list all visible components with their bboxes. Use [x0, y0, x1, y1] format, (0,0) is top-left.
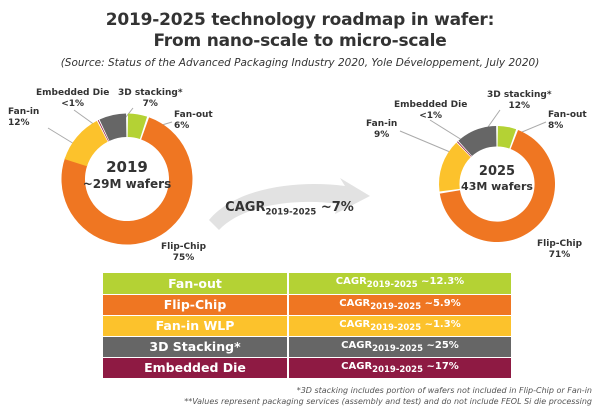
- callout-flip-chip-2019-pct: 75%: [161, 253, 206, 264]
- donut-2019-year: 2019: [48, 158, 206, 176]
- cagr-prefix: CAGR: [341, 361, 372, 372]
- page-title-line2: From nano-scale to micro-scale: [0, 31, 600, 52]
- callout-flip-chip-2025-pct: 71%: [537, 250, 582, 261]
- callout-3d-stacking-2025-name: 3D stacking*: [487, 90, 552, 100]
- callout-fan-out-2019: Fan-out 6%: [174, 110, 213, 132]
- callout-3d-stacking-2019: 3D stacking* 7%: [118, 88, 183, 110]
- row-name-fan-out: Fan-out: [103, 273, 288, 294]
- callout-embedded-die-2019-name: Embedded Die: [36, 88, 109, 98]
- cagr-value: ~17%: [427, 361, 459, 372]
- donut-2019-center: 2019 ~29M wafers: [48, 158, 206, 192]
- cagr-arrow-prefix: CAGR: [225, 200, 265, 215]
- callout-fan-in-2019-name: Fan-in: [8, 107, 39, 117]
- row-name-fan-in-wlp: Fan-in WLP: [103, 315, 288, 336]
- callout-embedded-die-2025-pct: <1%: [394, 111, 467, 122]
- table-row: Fan-out CAGR2019-2025 ~12.3%: [103, 273, 511, 294]
- table-row: 3D Stacking* CAGR2019-2025 ~25%: [103, 336, 511, 357]
- donut-chart-2025: 2025 43M wafers: [431, 118, 563, 250]
- callout-fan-out-2019-name: Fan-out: [174, 110, 213, 120]
- callout-3d-stacking-2019-pct: 7%: [118, 99, 183, 110]
- page-title-line1: 2019-2025 technology roadmap in wafer:: [0, 10, 600, 31]
- callout-fan-out-2025: Fan-out 8%: [548, 110, 587, 132]
- donut-2025-year: 2025: [431, 164, 563, 180]
- cagr-value: ~12.3%: [421, 276, 464, 287]
- row-cagr-fan-in-wlp: CAGR2019-2025 ~1.3%: [288, 315, 511, 336]
- callout-embedded-die-2019-pct: <1%: [36, 99, 109, 110]
- cagr-arrow-value: ~7%: [321, 200, 354, 215]
- cagr-value: ~1.3%: [425, 319, 461, 330]
- callout-embedded-die-2025-name: Embedded Die: [394, 100, 467, 110]
- table-row: Embedded Die CAGR2019-2025 ~17%: [103, 357, 511, 378]
- cagr-subscript: 2019-2025: [370, 323, 421, 333]
- callout-3d-stacking-2025-pct: 12%: [487, 101, 552, 112]
- table-row: Flip-Chip CAGR2019-2025 ~5.9%: [103, 294, 511, 315]
- cagr-prefix: CAGR: [341, 340, 372, 351]
- donut-2025-wafers: 43M wafers: [431, 180, 563, 194]
- row-cagr-fan-out: CAGR2019-2025 ~12.3%: [288, 273, 511, 294]
- cagr-subscript: 2019-2025: [372, 344, 423, 354]
- callout-fan-in-2019-pct: 12%: [8, 118, 39, 129]
- row-name-embedded-die: Embedded Die: [103, 357, 288, 378]
- callout-flip-chip-2025: Flip-Chip 71%: [537, 239, 582, 261]
- callout-embedded-die-2025: Embedded Die <1%: [394, 100, 467, 122]
- cagr-prefix: CAGR: [339, 319, 370, 330]
- footnotes: *3D stacking includes portion of wafers …: [0, 385, 592, 407]
- row-cagr-embedded-die: CAGR2019-2025 ~17%: [288, 357, 511, 378]
- source-subtitle: (Source: Status of the Advanced Packagin…: [0, 57, 600, 70]
- cagr-value: ~25%: [427, 340, 459, 351]
- row-name-3d-stacking: 3D Stacking*: [103, 336, 288, 357]
- cagr-prefix: CAGR: [336, 276, 367, 287]
- row-cagr-flip-chip: CAGR2019-2025 ~5.9%: [288, 294, 511, 315]
- table-row: Fan-in WLP CAGR2019-2025 ~1.3%: [103, 315, 511, 336]
- donut-2025-center: 2025 43M wafers: [431, 164, 563, 194]
- cagr-legend-table: Fan-out CAGR2019-2025 ~12.3% Flip-Chip C…: [103, 273, 511, 378]
- callout-fan-out-2025-name: Fan-out: [548, 110, 587, 120]
- cagr-arrow-label: CAGR2019-2025 ~7%: [207, 200, 372, 218]
- callout-flip-chip-2025-name: Flip-Chip: [537, 239, 582, 249]
- cagr-subscript: 2019-2025: [372, 365, 423, 375]
- callout-flip-chip-2019-name: Flip-Chip: [161, 242, 206, 252]
- cagr-arrow-subscript: 2019-2025: [265, 208, 316, 218]
- footnote-values: **Values represent packaging services (a…: [0, 396, 592, 407]
- callout-fan-in-2025: Fan-in 9%: [366, 119, 397, 141]
- cagr-prefix: CAGR: [339, 298, 370, 309]
- footnote-3d-stacking: *3D stacking includes portion of wafers …: [0, 385, 592, 396]
- callout-fan-in-2019: Fan-in 12%: [8, 107, 39, 129]
- callout-embedded-die-2019: Embedded Die <1%: [36, 88, 109, 110]
- callout-3d-stacking-2019-name: 3D stacking*: [118, 88, 183, 98]
- callout-fan-in-2025-name: Fan-in: [366, 119, 397, 129]
- callout-fan-in-2025-pct: 9%: [366, 130, 397, 141]
- title-block: 2019-2025 technology roadmap in wafer: F…: [0, 10, 600, 70]
- cagr-subscript: 2019-2025: [367, 280, 418, 290]
- callout-3d-stacking-2025: 3D stacking* 12%: [487, 90, 552, 112]
- callout-fan-out-2019-pct: 6%: [174, 121, 213, 132]
- row-name-flip-chip: Flip-Chip: [103, 294, 288, 315]
- donut-2019-wafers: ~29M wafers: [48, 176, 206, 192]
- callout-flip-chip-2019: Flip-Chip 75%: [161, 242, 206, 264]
- row-cagr-3d-stacking: CAGR2019-2025 ~25%: [288, 336, 511, 357]
- cagr-value: ~5.9%: [425, 298, 461, 309]
- callout-fan-out-2025-pct: 8%: [548, 121, 587, 132]
- cagr-subscript: 2019-2025: [370, 302, 421, 312]
